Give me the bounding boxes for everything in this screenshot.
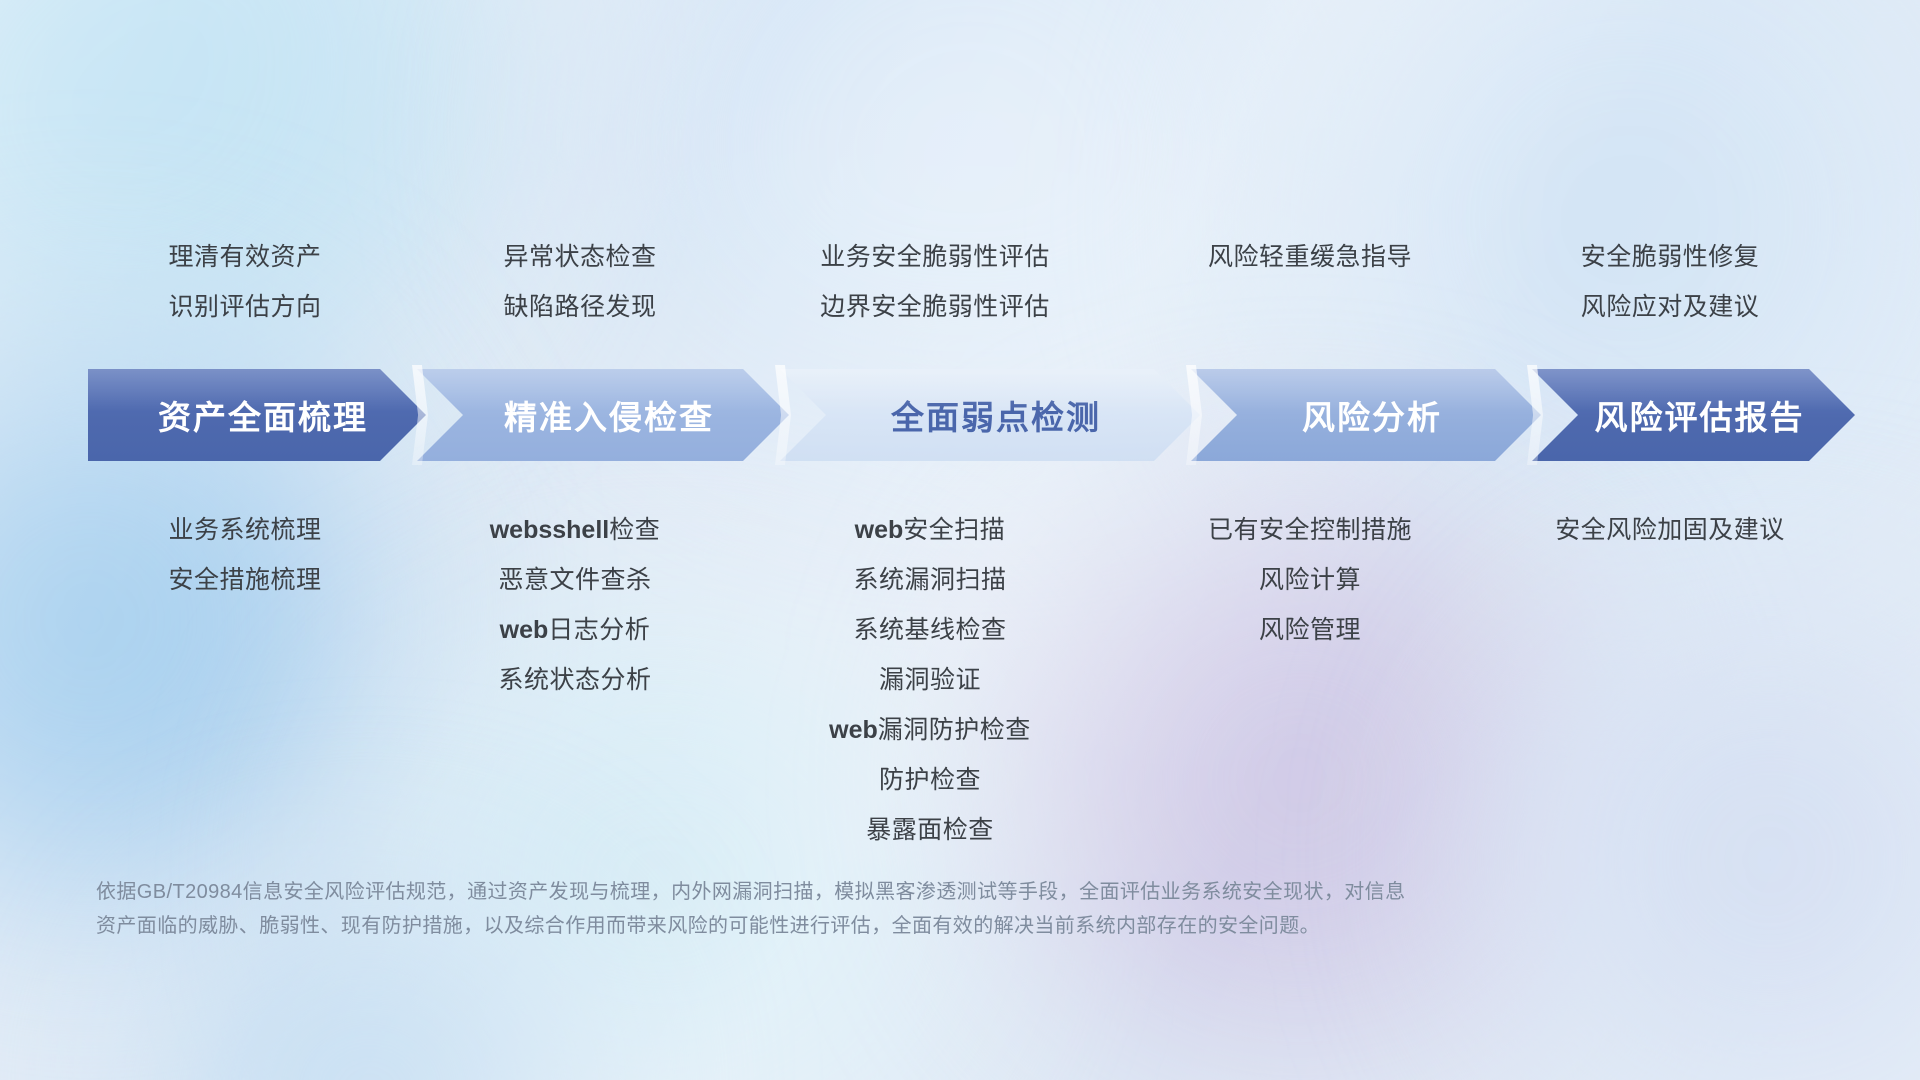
top-label: 风险轻重缓急指导 (1120, 232, 1500, 282)
footer-line: 资产面临的威胁、脆弱性、现有防护措施，以及综合作用而带来风险的可能性进行评估，全… (96, 909, 1616, 943)
bottom-label: 系统漏洞扫描 (730, 555, 1130, 605)
top-label: 识别评估方向 (60, 282, 430, 332)
stage-title: 风险分析 (1302, 391, 1442, 439)
bottom-label: 恶意文件查杀 (400, 555, 750, 605)
bottom-labels-stage-2: websshell检查 恶意文件查杀 web日志分析 系统状态分析 (400, 505, 750, 705)
top-labels-stage-3: 业务安全脆弱性评估 边界安全脆弱性评估 (725, 232, 1145, 332)
top-label: 风险应对及建议 (1480, 282, 1860, 332)
bottom-label: 系统基线检查 (730, 605, 1130, 655)
bottom-labels-stage-5: 安全风险加固及建议 (1470, 505, 1870, 555)
stage-title: 风险评估报告 (1595, 391, 1805, 439)
top-label: 缺陷路径发现 (410, 282, 750, 332)
process-flow-diagram: 理清有效资产 识别评估方向 异常状态检查 缺陷路径发现 业务安全脆弱性评估 边界… (0, 0, 1920, 1080)
bottom-label: 暴露面检查 (730, 805, 1130, 855)
chevron-band: 资产全面梳理 精准入侵检查 全面弱点检测 风险分析 风险评估报告 (88, 369, 1855, 461)
bottom-label: 防护检查 (730, 755, 1130, 805)
footer-description: 依据GB/T20984信息安全风险评估规范，通过资产发现与梳理，内外网漏洞扫描，… (96, 875, 1616, 943)
stage-title: 全面弱点检测 (891, 391, 1101, 439)
top-labels-stage-5: 安全脆弱性修复 风险应对及建议 (1480, 232, 1860, 332)
bottom-label: web漏洞防护检查 (730, 705, 1130, 755)
bottom-label: 系统状态分析 (400, 655, 750, 705)
bottom-label: 安全风险加固及建议 (1470, 505, 1870, 555)
bottom-labels-stage-4: 已有安全控制措施 风险计算 风险管理 (1120, 505, 1500, 655)
bottom-label: web安全扫描 (730, 505, 1130, 555)
top-labels-stage-2: 异常状态检查 缺陷路径发现 (410, 232, 750, 332)
stage-chevron-1[interactable]: 资产全面梳理 (88, 369, 426, 461)
stage-chevron-2[interactable]: 精准入侵检查 (417, 369, 789, 461)
bottom-label: 风险管理 (1120, 605, 1500, 655)
bottom-label-row: 业务系统梳理 安全措施梳理 websshell检查 恶意文件查杀 web日志分析… (0, 505, 1920, 865)
bottom-label: websshell检查 (400, 505, 750, 555)
bottom-labels-stage-3: web安全扫描 系统漏洞扫描 系统基线检查 漏洞验证 web漏洞防护检查 防护检… (730, 505, 1130, 855)
top-label: 理清有效资产 (60, 232, 430, 282)
top-labels-stage-4: 风险轻重缓急指导 (1120, 232, 1500, 282)
stage-chevron-3[interactable]: 全面弱点检测 (780, 369, 1200, 461)
bottom-label: 已有安全控制措施 (1120, 505, 1500, 555)
top-labels-stage-1: 理清有效资产 识别评估方向 (60, 232, 430, 332)
bottom-label: 业务系统梳理 (60, 505, 430, 555)
top-label-row: 理清有效资产 识别评估方向 异常状态检查 缺陷路径发现 业务安全脆弱性评估 边界… (0, 232, 1920, 342)
top-label: 异常状态检查 (410, 232, 750, 282)
bottom-labels-stage-1: 业务系统梳理 安全措施梳理 (60, 505, 430, 605)
bottom-label: 风险计算 (1120, 555, 1500, 605)
stage-title: 资产全面梳理 (158, 391, 368, 439)
footer-line: 依据GB/T20984信息安全风险评估规范，通过资产发现与梳理，内外网漏洞扫描，… (96, 875, 1616, 909)
bottom-label: 漏洞验证 (730, 655, 1130, 705)
bottom-label: 安全措施梳理 (60, 555, 430, 605)
stage-chevron-4[interactable]: 风险分析 (1191, 369, 1541, 461)
stage-title: 精准入侵检查 (504, 391, 714, 439)
top-label: 安全脆弱性修复 (1480, 232, 1860, 282)
top-label: 业务安全脆弱性评估 (725, 232, 1145, 282)
stage-chevron-5[interactable]: 风险评估报告 (1532, 369, 1855, 461)
bottom-label: web日志分析 (400, 605, 750, 655)
top-label: 边界安全脆弱性评估 (725, 282, 1145, 332)
